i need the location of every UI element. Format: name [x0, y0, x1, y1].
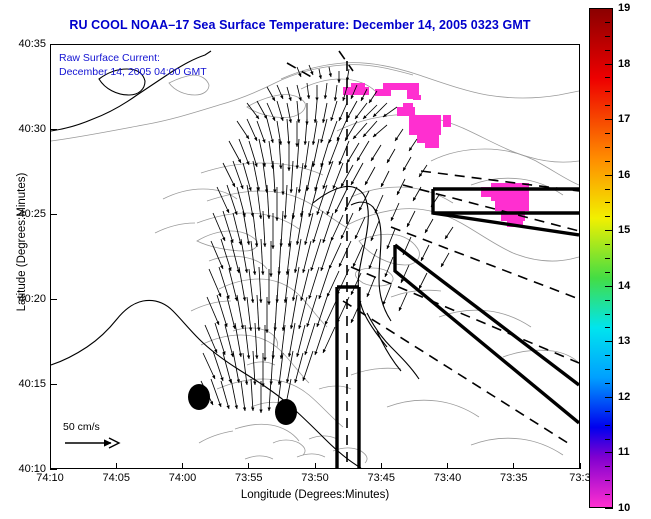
colorbar-tick-mark [605, 36, 610, 37]
colorbar-tick-mark [605, 397, 613, 398]
colorbar-tick-mark [605, 77, 610, 78]
colorbar-tick-mark [605, 314, 610, 315]
colorbar-tick-mark [605, 439, 610, 440]
colorbar-tick-mark [605, 133, 610, 134]
y-axis-label: Latitude (Degrees:Minutes) [16, 142, 28, 342]
colorbar-tick-label: 15 [618, 224, 630, 236]
annotation-line-1: Raw Surface Current: [59, 51, 207, 65]
colorbar-tick-mark [605, 508, 613, 509]
x-tick-mark [381, 463, 382, 469]
colorbar-tick-mark [605, 8, 613, 9]
colorbar-tick-label: 10 [618, 502, 630, 514]
colorbar-tick-label: 14 [618, 280, 630, 292]
annotation-line-2: December 14, 2005 04:00 GMT [59, 65, 207, 79]
colorbar-tick-mark [605, 286, 613, 287]
x-tick-mark [315, 463, 316, 469]
colorbar-tick-label: 13 [618, 335, 630, 347]
colorbar-tick-label: 11 [618, 446, 630, 458]
colorbar-tick-mark [605, 147, 610, 148]
colorbar-tick-mark [605, 258, 610, 259]
colorbar-tick-mark [605, 383, 610, 384]
colorbar-tick-mark [605, 480, 610, 481]
y-tick-mark [50, 469, 57, 470]
colorbar-tick-mark [605, 216, 610, 217]
y-tick-label: 40:10 [18, 463, 46, 475]
sst-map-figure: RU COOL NOAA–17 Sea Surface Temperature:… [0, 0, 651, 519]
colorbar-tick-mark [605, 105, 610, 106]
colorbar-tick-label: 16 [618, 169, 630, 181]
x-tick-mark [248, 463, 249, 469]
scale-legend-label: 50 cm/s [63, 421, 123, 433]
map-plot-area[interactable]: Raw Surface Current: December 14, 2005 0… [50, 44, 580, 469]
current-annotation: Raw Surface Current: December 14, 2005 0… [59, 51, 207, 79]
colorbar-tick-mark [605, 369, 610, 370]
x-tick-label: 73:45 [367, 472, 395, 484]
map-canvas [51, 45, 579, 468]
x-axis-label: Longitude (Degrees:Minutes) [50, 489, 580, 501]
colorbar-tick-mark [605, 494, 610, 495]
scale-legend: 50 cm/s [63, 421, 123, 456]
colorbar-tick-label: 17 [618, 113, 630, 125]
colorbar-tick-label: 12 [618, 391, 630, 403]
figure-title: RU COOL NOAA–17 Sea Surface Temperature:… [0, 18, 600, 32]
x-tick-mark [182, 463, 183, 469]
colorbar-tick-mark [605, 50, 610, 51]
x-tick-label: 74:05 [102, 472, 130, 484]
x-tick-label: 73:40 [434, 472, 462, 484]
colorbar-tick-mark [605, 202, 610, 203]
y-tick-label: 40:35 [18, 38, 46, 50]
x-tick-label: 73:3 [569, 472, 590, 484]
x-tick-mark [116, 463, 117, 469]
x-tick-label: 73:50 [301, 472, 329, 484]
colorbar-tick-mark [605, 300, 610, 301]
colorbar-tick-mark [605, 244, 610, 245]
y-tick-label: 40:30 [18, 123, 46, 135]
x-tick-mark [447, 463, 448, 469]
colorbar-tick-mark [605, 22, 610, 23]
x-tick-label: 73:35 [500, 472, 528, 484]
x-tick-label: 74:00 [169, 472, 197, 484]
colorbar-tick-mark [605, 175, 613, 176]
colorbar-tick-mark [605, 355, 610, 356]
y-tick-label: 40:15 [18, 378, 46, 390]
colorbar-tick-mark [605, 230, 613, 231]
y-tick-mark [50, 129, 57, 130]
y-tick-mark [50, 44, 57, 45]
colorbar-tick-mark [605, 341, 613, 342]
colorbar-tick-mark [605, 161, 610, 162]
colorbar-tick-mark [605, 425, 610, 426]
y-tick-mark [50, 214, 57, 215]
right-arrow-icon [63, 433, 123, 451]
y-tick-mark [50, 384, 57, 385]
colorbar-tick-label: 18 [618, 58, 630, 70]
x-tick-mark [513, 463, 514, 469]
x-tick-label: 73:55 [235, 472, 263, 484]
colorbar-tick-mark [605, 466, 610, 467]
colorbar-tick-mark [605, 327, 610, 328]
colorbar-tick-mark [605, 119, 613, 120]
colorbar-tick-mark [605, 272, 610, 273]
colorbar-tick-mark [605, 452, 613, 453]
colorbar-tick-mark [605, 64, 613, 65]
x-tick-mark [580, 463, 581, 469]
colorbar-tick-mark [605, 189, 610, 190]
y-tick-mark [50, 299, 57, 300]
colorbar-tick-label: 19 [618, 2, 630, 14]
colorbar-tick-mark [605, 91, 610, 92]
colorbar-tick-mark [605, 411, 610, 412]
coastline [51, 51, 419, 468]
